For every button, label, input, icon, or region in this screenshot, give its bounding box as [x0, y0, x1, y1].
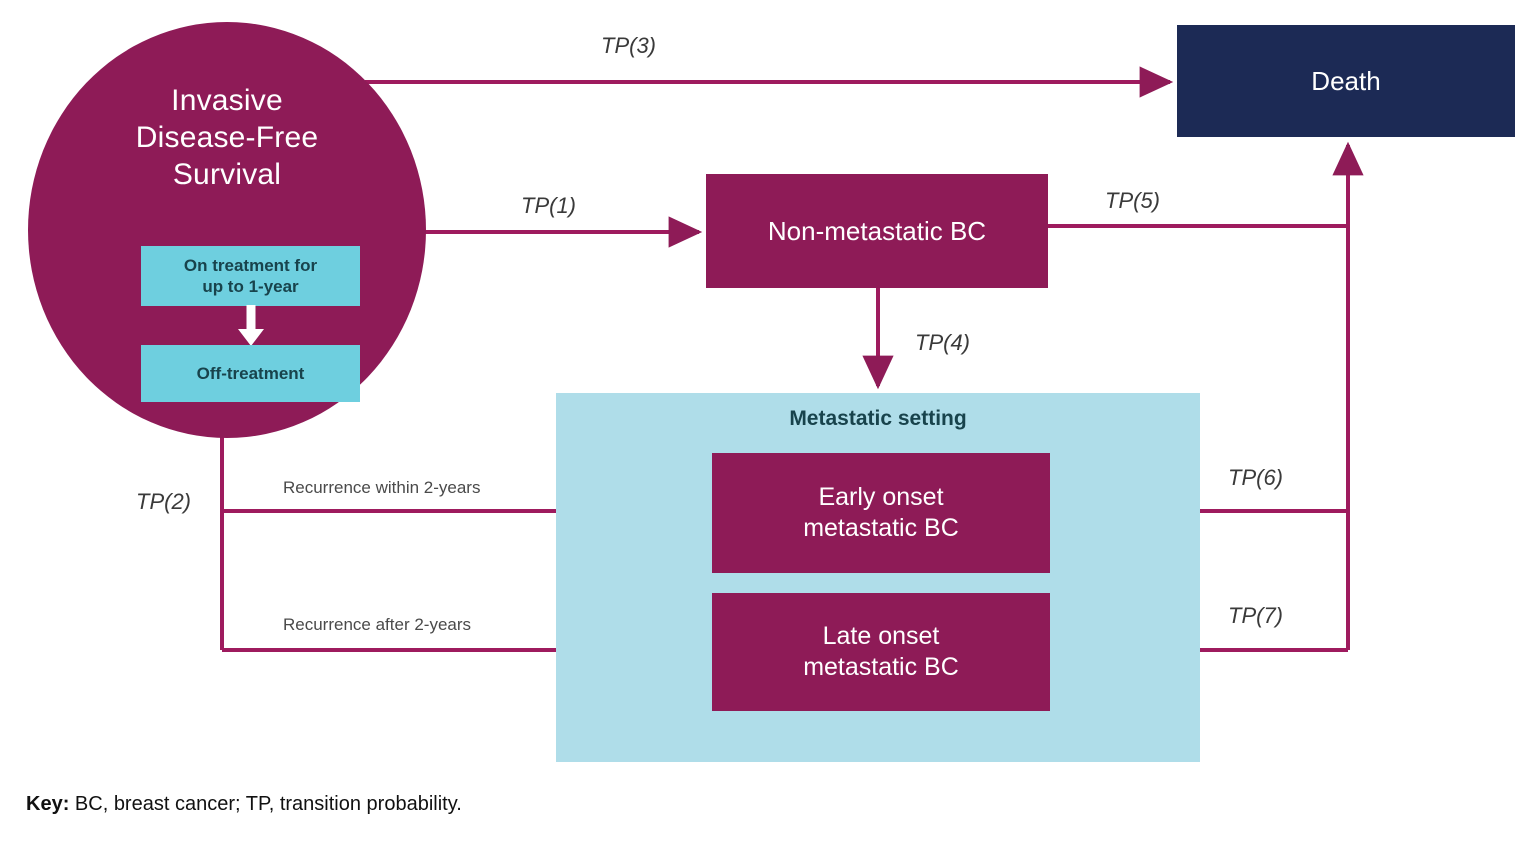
edge-label-tp5: TP(5) [1105, 188, 1160, 214]
edge-note-recurrence-within-2-years: Recurrence within 2-years [283, 478, 480, 498]
late-onset-label-line1: Late onset [823, 622, 940, 650]
edge-label-tp7: TP(7) [1228, 603, 1283, 629]
metastatic-setting-title: Metastatic setting [556, 407, 1200, 431]
on-treatment-label-line2: up to 1-year [202, 277, 298, 296]
on-treatment-label-line1: On treatment for [184, 256, 317, 275]
node-invasive-disease-free-survival[interactable]: Invasive Disease-Free Survival On treatm… [28, 22, 426, 438]
edge-label-tp2: TP(2) [136, 489, 191, 515]
substate-off-treatment[interactable]: Off-treatment [141, 345, 360, 402]
early-onset-label: Early onset metastatic BC [803, 482, 959, 544]
off-treatment-label: Off-treatment [197, 363, 305, 384]
edge-label-tp4: TP(4) [915, 330, 970, 356]
substate-on-treatment[interactable]: On treatment for up to 1-year [141, 246, 360, 306]
edge-label-tp3: TP(3) [601, 33, 656, 59]
idfs-title-line2: Disease-Free [28, 119, 426, 156]
idfs-title-line3: Survival [28, 156, 426, 193]
figure-key-caption: Key: BC, breast cancer; TP, transition p… [26, 793, 462, 816]
diagram-canvas: Invasive Disease-Free Survival On treatm… [0, 0, 1530, 854]
caption-key-text: BC, breast cancer; TP, transition probab… [69, 793, 461, 815]
idfs-title-line1: Invasive [28, 82, 426, 119]
early-onset-label-line1: Early onset [818, 483, 943, 511]
on-treatment-label: On treatment for up to 1-year [184, 255, 317, 297]
edge-note-recurrence-after-2-years: Recurrence after 2-years [283, 615, 471, 635]
death-label: Death [1311, 66, 1380, 97]
caption-key-prefix: Key: [26, 793, 69, 815]
late-onset-label: Late onset metastatic BC [803, 621, 959, 683]
idfs-title: Invasive Disease-Free Survival [28, 82, 426, 193]
late-onset-label-line2: metastatic BC [803, 653, 959, 681]
node-non-metastatic-bc[interactable]: Non-metastatic BC [706, 174, 1048, 288]
non-metastatic-bc-label: Non-metastatic BC [768, 216, 986, 247]
node-death[interactable]: Death [1177, 25, 1515, 137]
edge-label-tp6: TP(6) [1228, 465, 1283, 491]
edge-label-tp1: TP(1) [521, 193, 576, 219]
node-late-onset-metastatic-bc[interactable]: Late onset metastatic BC [712, 593, 1050, 711]
early-onset-label-line2: metastatic BC [803, 514, 959, 542]
node-early-onset-metastatic-bc[interactable]: Early onset metastatic BC [712, 453, 1050, 573]
down-arrow-icon [236, 305, 266, 347]
